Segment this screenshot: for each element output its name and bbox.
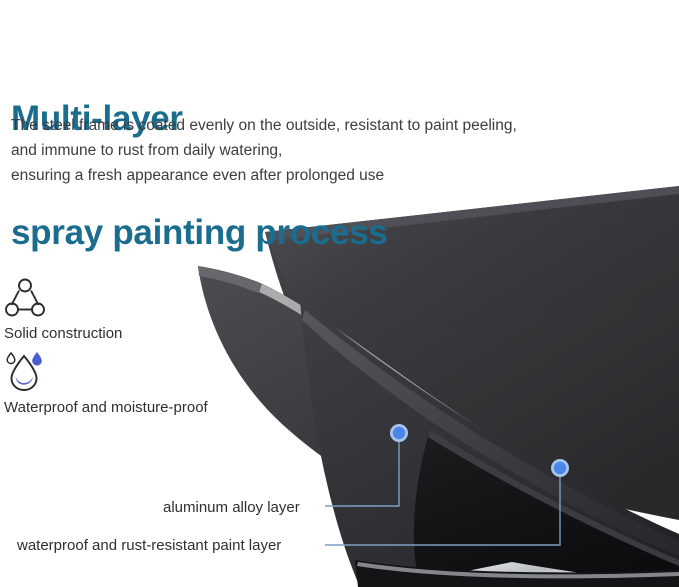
page-description: The steel frame is coated evenly on the …: [11, 113, 651, 188]
description-line-3: ensuring a fresh appearance even after p…: [11, 163, 651, 188]
callout-leader-line-paint-layer: [325, 476, 560, 545]
callout-label-paint-layer: waterproof and rust-resistant paint laye…: [17, 537, 281, 554]
feature-solid-construction-label: Solid construction: [4, 325, 122, 342]
feature-solid-construction: Solid construction: [4, 276, 122, 342]
panel-front-glossy-face: [300, 300, 679, 587]
feature-waterproof: Waterproof and moisture-proof: [4, 350, 208, 416]
panel-metal-rail-lower: [430, 578, 679, 587]
callout-marker-ring-aluminum-alloy: [390, 424, 408, 442]
product-feature-page: Multi-layer spray painting process The s…: [0, 0, 679, 587]
panel-inner-dark-plate: [414, 430, 679, 587]
callout-label-aluminum-alloy: aluminum alloy layer: [163, 499, 300, 516]
panel-front-gloss-sweep: [302, 310, 679, 556]
description-line-1: The steel frame is coated evenly on the …: [11, 113, 651, 138]
callout-marker-dot-aluminum-alloy: [393, 427, 405, 439]
panel-metal-edge-rail: [396, 562, 679, 587]
callout-marker-ring-paint-layer: [551, 459, 569, 477]
panel-inner-plate-bevel: [428, 430, 679, 566]
panel-bottom-under-edge: [355, 560, 679, 587]
triangle-nodes-icon: [4, 276, 122, 318]
water-droplet-icon: [4, 350, 208, 392]
callout-marker-dot-paint-layer: [554, 462, 566, 474]
callout-leader-line-aluminum-alloy: [325, 441, 399, 506]
panel-bottom-edge-highlight: [357, 562, 679, 578]
description-line-2: and immune to rust from daily watering,: [11, 138, 651, 163]
feature-waterproof-label: Waterproof and moisture-proof: [4, 399, 208, 416]
page-title-line-2: spray painting process: [11, 214, 611, 252]
